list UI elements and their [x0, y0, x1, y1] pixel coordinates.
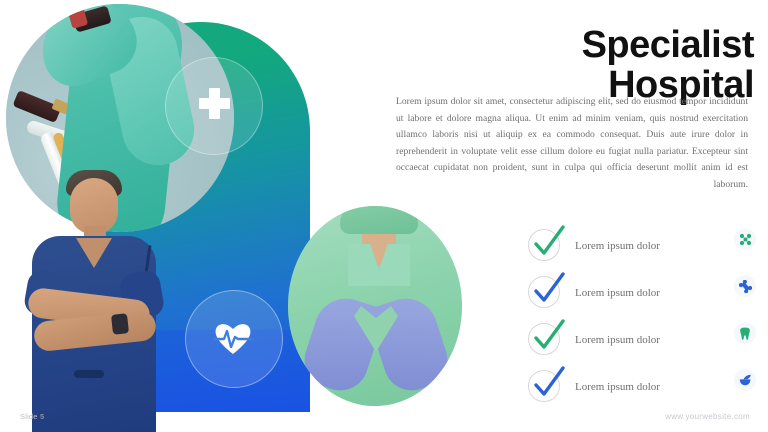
feature-list: Lorem ipsum dolor Lorem ipsum dolor — [528, 222, 756, 410]
slide-number-label: Slide — [20, 412, 38, 421]
photo-doctor — [18, 168, 168, 432]
slide-canvas: Specialist Hospital Lorem ipsum dolor si… — [0, 0, 768, 432]
website-url: www.yourwebsite.com — [665, 412, 750, 421]
slide-number-value: 5 — [40, 412, 44, 421]
check-icon — [530, 366, 566, 404]
doctor-scrub-tie — [74, 370, 104, 378]
heart-pulse-icon — [213, 320, 253, 356]
body-paragraph: Lorem ipsum dolor sit amet, consectetur … — [396, 94, 748, 193]
check-circle-3 — [528, 323, 562, 357]
tooth-icon[interactable] — [734, 322, 756, 344]
list-item[interactable]: Lorem ipsum dolor — [528, 222, 756, 269]
check-icon — [530, 225, 566, 263]
dna-molecule-icon[interactable] — [734, 228, 756, 250]
list-item[interactable]: Lorem ipsum dolor — [528, 316, 756, 363]
slide-number: Slide 5 — [20, 412, 44, 421]
medical-cross-icon — [199, 88, 229, 118]
check-icon — [530, 319, 566, 357]
list-item[interactable]: Lorem ipsum dolor — [528, 363, 756, 410]
list-item[interactable]: Lorem ipsum dolor — [528, 269, 756, 316]
list-item-label: Lorem ipsum dolor — [575, 287, 660, 299]
check-circle-1 — [528, 229, 562, 263]
list-item-label: Lorem ipsum dolor — [575, 240, 660, 252]
bone-icon[interactable] — [734, 275, 756, 297]
check-circle-2 — [528, 276, 562, 310]
mortar-pestle-icon[interactable] — [734, 369, 756, 391]
photo-heart-hands — [288, 206, 462, 406]
check-circle-4 — [528, 370, 562, 404]
photo-heart-surgical-cap — [340, 206, 418, 234]
list-item-label: Lorem ipsum dolor — [575, 381, 660, 393]
check-icon — [530, 272, 566, 310]
list-item-label: Lorem ipsum dolor — [575, 334, 660, 346]
doctor-wristwatch — [111, 313, 129, 335]
